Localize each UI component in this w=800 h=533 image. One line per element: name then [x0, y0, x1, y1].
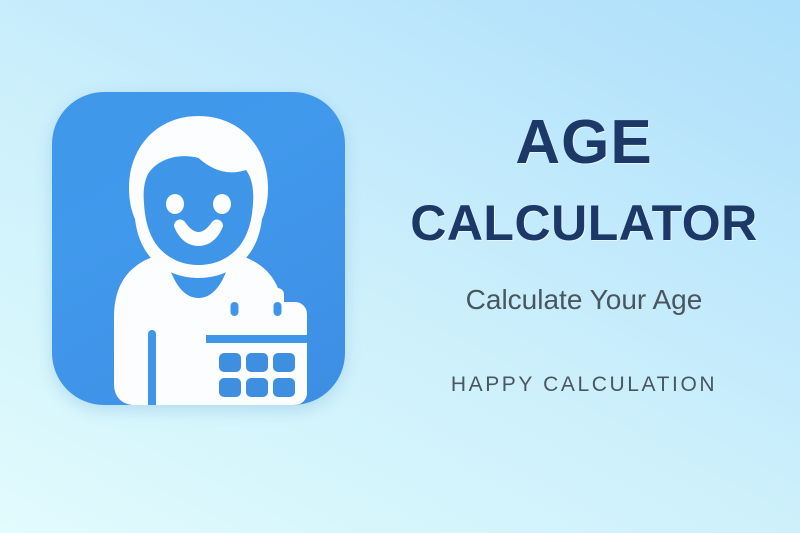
calendar-cell [273, 378, 295, 397]
face [144, 156, 254, 265]
page-title-line-2: CALCULATOR [410, 198, 758, 248]
calendar-icon [206, 288, 307, 405]
calendar-cell [219, 378, 241, 397]
page-title-line-1: AGE [515, 112, 652, 174]
calendar-ring-left-slot [231, 302, 239, 316]
banner-text-block: AGE CALCULATOR Calculate Your Age HAPPY … [368, 0, 800, 533]
calendar-cell [273, 353, 295, 372]
calendar-cell [246, 378, 268, 397]
person-with-calendar-icon [52, 92, 345, 405]
arm-seam [148, 330, 156, 405]
app-icon-tile[interactable] [52, 92, 345, 405]
tagline: Calculate Your Age [466, 286, 703, 314]
app-icon-container [52, 92, 345, 405]
calendar-cell [246, 353, 268, 372]
footer-note: HAPPY CALCULATION [451, 374, 717, 395]
calendar-cell [219, 353, 241, 372]
calendar-ring-right-slot [274, 302, 282, 316]
eye-left [166, 194, 184, 214]
age-calculator-banner: AGE CALCULATOR Calculate Your Age HAPPY … [0, 0, 800, 533]
calendar-header [206, 335, 307, 343]
eye-right [213, 194, 231, 214]
head [129, 116, 268, 278]
